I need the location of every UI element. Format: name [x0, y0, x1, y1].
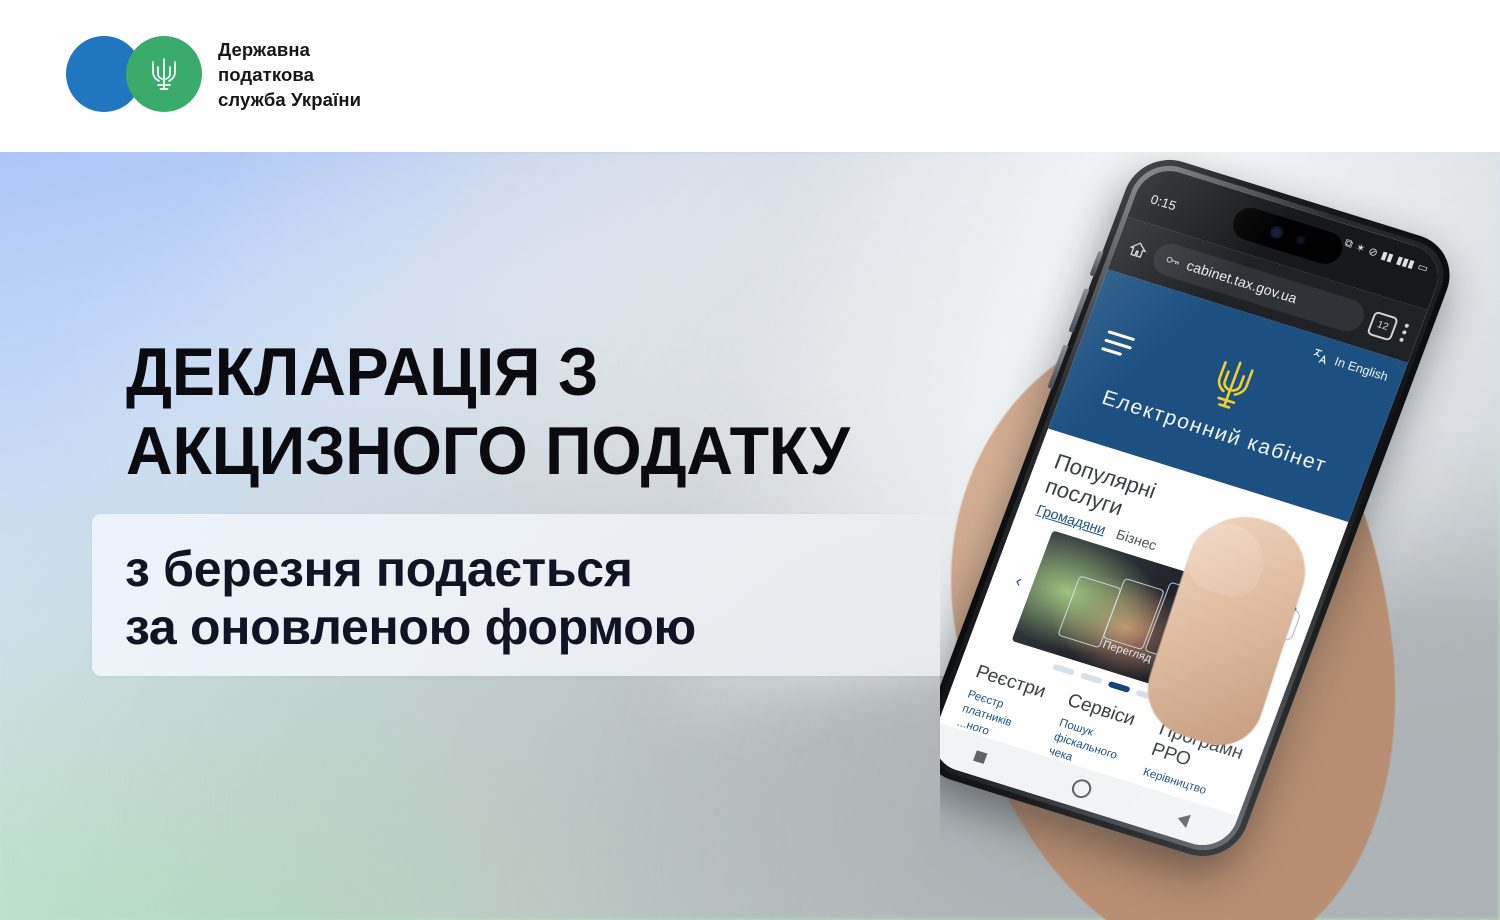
status-bar-clock: 0:15 [1149, 192, 1179, 214]
carousel-dot-active[interactable] [1108, 681, 1131, 693]
signal-icon: ▮▮▮ [1395, 253, 1417, 271]
kebab-menu-icon[interactable] [1399, 323, 1409, 342]
logo[interactable]: Державна податкова служба України [66, 36, 361, 112]
mute-icon: ⊘ [1367, 245, 1380, 260]
phone-scene: 0:15 ⧉ ✶ ⊘ ▮▮ ▮▮▮ ▭ [940, 152, 1500, 920]
tryzub-icon [1198, 350, 1264, 423]
page-title: ДЕКЛАРАЦІЯ З АКЦИЗНОГО ПОДАТКУ [126, 333, 962, 491]
hamburger-icon[interactable] [1101, 330, 1135, 358]
logo-marks [66, 36, 202, 112]
logo-text: Державна податкова служба України [218, 37, 361, 112]
language-link[interactable]: In English [1333, 354, 1390, 383]
tab-counter-button[interactable]: 12 [1366, 310, 1399, 341]
lock-icon [1164, 252, 1183, 269]
vpn-icon: ⧉ [1343, 237, 1355, 252]
tryzub-icon [126, 36, 202, 112]
front-camera-icon [1268, 224, 1285, 240]
chevron-left-icon[interactable]: ‹ [1008, 570, 1030, 593]
back-icon[interactable] [1175, 811, 1190, 827]
battery-icon: ▭ [1416, 260, 1431, 275]
site-header-band: Державна податкова служба України [0, 0, 1500, 152]
wifi-icon: ▮▮ [1379, 249, 1395, 265]
translate-icon [1311, 347, 1333, 366]
sensor-icon [1295, 234, 1307, 245]
banner-canvas: ДЕКЛАРАЦІЯ З АКЦИЗНОГО ПОДАТКУ з березня… [0, 0, 1500, 920]
carousel-dot[interactable] [1052, 664, 1075, 676]
bluetooth-icon: ✶ [1354, 241, 1367, 256]
home-icon[interactable] [1126, 238, 1151, 261]
subtitle-card: з березня подається за оновленою формою [92, 514, 968, 676]
home-circle-icon[interactable] [1069, 776, 1094, 799]
recents-icon[interactable] [973, 750, 987, 764]
subtitle-text: з березня подається за оновленою формою [125, 540, 955, 656]
carousel-dot[interactable] [1080, 672, 1103, 684]
